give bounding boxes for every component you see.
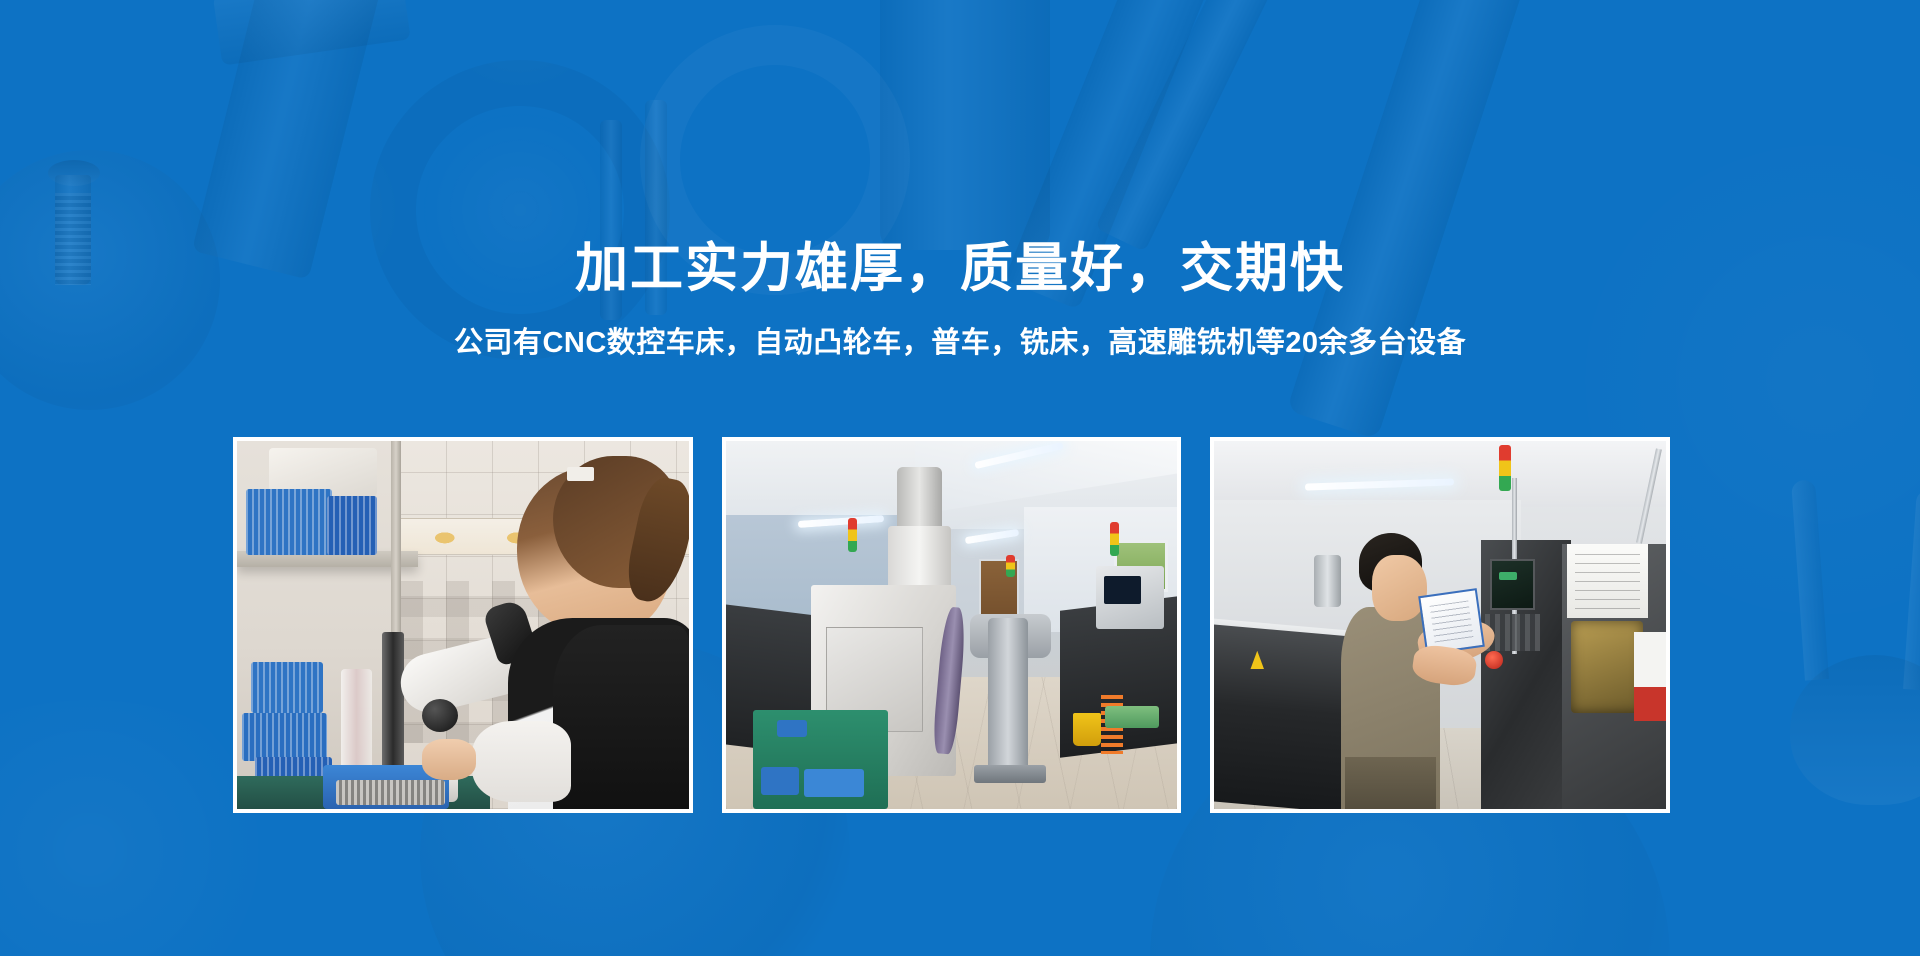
photo1-inspector-hair [553, 456, 679, 588]
photo1-inspector-ponytail [622, 474, 689, 608]
photo1-tile-accent [400, 581, 581, 743]
photo3-warning-label-icon [1250, 651, 1264, 669]
photo1-parts-basket [246, 489, 332, 555]
photo2-window [1114, 540, 1168, 592]
photo2-floor [726, 677, 1178, 809]
photo3-bar-feeder-top [1214, 618, 1368, 669]
photo2-chip-conveyor [988, 618, 1029, 784]
photo2-cart-bin [804, 769, 864, 797]
photo3-stack-light-pole [1512, 478, 1517, 655]
photo2-back-wall [726, 515, 943, 625]
photo1-machined-parts [336, 780, 444, 806]
banner-title: 加工实力雄厚，质量好，交期快 [0, 240, 1920, 298]
photo2-coolant-hose [932, 606, 967, 755]
photo-microscope-inspection [237, 441, 689, 809]
photo1-inspector-hairclip [567, 467, 594, 482]
photo3-wall [1214, 500, 1521, 669]
photo3-extraction-duct [1314, 555, 1341, 607]
photo3-machine-side-panel [1562, 544, 1666, 809]
factory-strength-banner: 加工实力雄厚，质量好，交期快 公司有CNC数控车床，自动凸轮车，普车，铣床，高速… [0, 0, 1920, 956]
photo2-control-panel [1096, 566, 1164, 629]
photo1-parts-basket [327, 496, 377, 555]
photo3-ceiling-lamp [1305, 479, 1454, 491]
photo2-door [979, 559, 1020, 640]
photo2-cart-bin [777, 720, 807, 738]
photo2-cart-bin [761, 767, 799, 795]
photo3-wall-trim [1214, 632, 1512, 634]
photo3-operator-body [1341, 607, 1440, 809]
watermark-screw-head-icon [48, 160, 100, 186]
photo2-lathe-right [1060, 595, 1177, 758]
watermark-rod-part-icon [1095, 0, 1320, 252]
watermark-fork-part-icon [1790, 480, 1920, 810]
photo1-inspector-head [517, 467, 671, 636]
photo1-workbench [237, 776, 490, 809]
photo2-conveyor-base [974, 765, 1046, 783]
photo2-ceiling [726, 441, 1178, 529]
photo-operator-at-cnc-panel [1214, 441, 1666, 809]
photo2-extraction-duct [897, 467, 942, 548]
photo1-blue-tray [323, 765, 449, 809]
photo3-cnc-keypad [1485, 614, 1539, 651]
photo1-plastic-bag [269, 448, 377, 496]
photo1-wall-border [400, 518, 689, 555]
photo3-safety-notice [1634, 632, 1666, 720]
photo2-stack-light [1110, 522, 1119, 556]
photo2-stack-light [1006, 555, 1015, 577]
photo3-drawing-clipboard [1418, 588, 1484, 654]
photo3-operator-pants [1345, 757, 1435, 809]
photo2-ceiling-lamp [965, 529, 1020, 544]
photo1-shelf-post [391, 441, 401, 669]
photo1-microscope-eyepiece [482, 598, 539, 667]
photo1-microscope-knob [422, 699, 458, 732]
photo2-lathe-left [726, 604, 825, 757]
photo-cnc-workshop [726, 441, 1178, 809]
photo3-wall-chart [1567, 544, 1648, 618]
photo3-ceiling-pipe [1637, 449, 1663, 544]
photo2-right-wall [1024, 507, 1178, 632]
photo2-cnc-machine [811, 585, 956, 776]
watermark-fork-cup [1790, 655, 1920, 805]
photo1-bottle [341, 669, 373, 772]
photo3-operator-face [1372, 555, 1426, 621]
photo2-ceiling-beam [915, 441, 1177, 515]
photo1-inspector-body [508, 618, 689, 809]
banner-subtitle: 公司有CNC数控车床，自动凸轮车，普车，铣床，高速雕铣机等20余多台设备 [0, 326, 1920, 361]
photo3-operator-hair [1359, 533, 1422, 592]
photo3-bar-feeder [1214, 624, 1395, 809]
photo2-ceiling-lamp [798, 515, 884, 528]
watermark-fork-tine [1791, 479, 1829, 680]
photo2-duct-housing [888, 526, 951, 600]
photo1-parts-basket [251, 662, 323, 714]
photo2-stack-light [848, 518, 857, 552]
photo-frame-3 [1210, 437, 1670, 813]
photo1-microscope-column [382, 632, 405, 794]
watermark-bolt-part-icon [192, 0, 388, 280]
photo1-microscope-body [394, 634, 518, 718]
photo3-machine-cabinet [1481, 540, 1571, 809]
watermark-shaft-part-icon [1287, 0, 1569, 440]
photo2-yellow-bucket [1073, 713, 1100, 746]
photo1-inspector-arm [472, 721, 571, 802]
photo2-green-tray [1105, 706, 1159, 728]
photo2-ceiling-lamp [974, 442, 1064, 469]
photo1-inspector-hand [422, 739, 476, 779]
photo1-inspector-vest [553, 625, 689, 809]
photo-frame-2 [722, 437, 1182, 813]
watermark-cylinder-part-icon [880, 0, 1050, 250]
photo3-floor [1214, 728, 1494, 809]
photo3-operator-arm [1415, 615, 1498, 668]
photo1-shelf [237, 551, 418, 567]
photo-frame-1 [233, 437, 693, 813]
photo1-tile-wall [400, 441, 689, 809]
photo3-stack-light [1499, 445, 1511, 491]
photo3-ceiling [1214, 441, 1666, 507]
photo1-parts-basket [242, 713, 328, 761]
photo2-orange-cable [1101, 695, 1124, 754]
photo1-microscope-base [359, 769, 458, 802]
photo3-cnc-screen [1490, 559, 1535, 611]
photo1-parts-basket [255, 757, 332, 801]
headline-block: 加工实力雄厚，质量好，交期快 公司有CNC数控车床，自动凸轮车，普车，铣床，高速… [0, 240, 1920, 361]
photo3-emergency-stop-button [1485, 651, 1503, 669]
watermark-fork-tine [1903, 489, 1920, 690]
photo3-operator-arm [1411, 643, 1479, 688]
photo2-conveyor-head [970, 614, 1051, 658]
photo2-tool-cart [753, 710, 889, 809]
factory-photo-strip [233, 437, 1670, 813]
photo3-machine-window [1571, 621, 1643, 713]
